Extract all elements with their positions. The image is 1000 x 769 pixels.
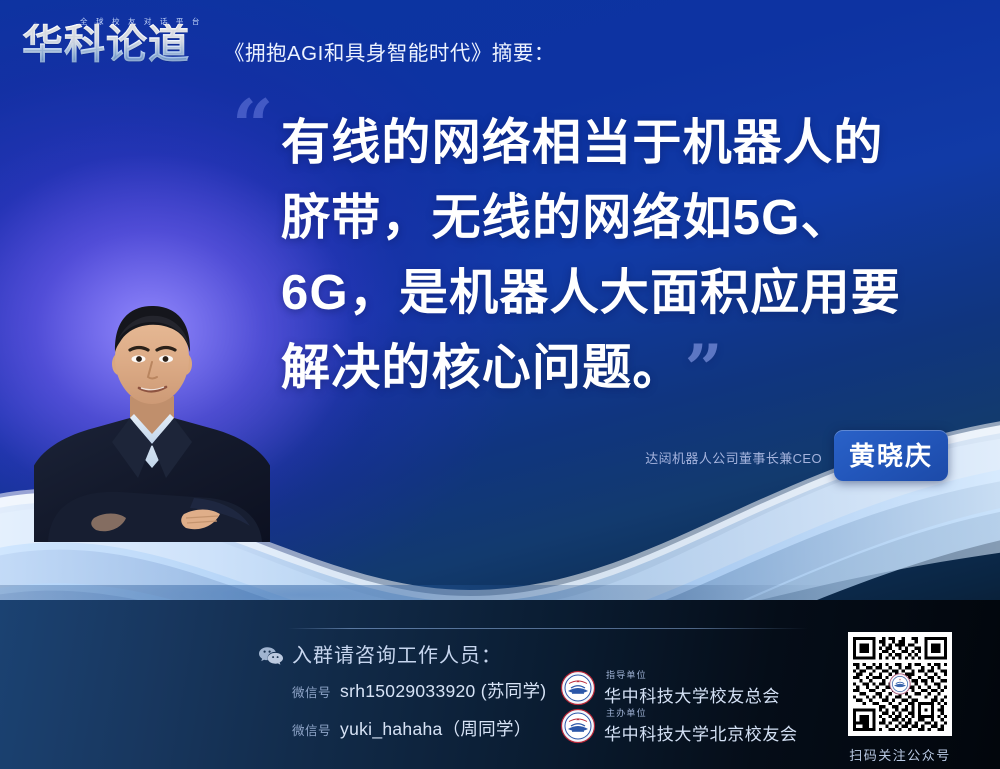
quote-line: 脐带，无线的网络如5G、 (281, 181, 951, 256)
quote-line-text: 解决的核心问题。 (281, 341, 683, 395)
organization-item: 指导单位 华中科技大学校友总会 (560, 668, 780, 707)
attribution: 达闼机器人公司董事长兼CEO 黄晓庆 (645, 448, 942, 468)
quote-open-mark: “ (232, 100, 271, 152)
qr-block: 扫码关注公众号 (838, 632, 962, 764)
qr-caption: 扫码关注公众号 (838, 745, 962, 764)
qr-code-icon[interactable] (848, 632, 952, 736)
contact-value: yuki_hahaha（周同学） (340, 716, 532, 741)
organization-item: 主办单位 华中科技大学北京校友会 (560, 706, 798, 745)
organization-kind: 指导单位 (606, 668, 780, 681)
wechat-icon (258, 646, 284, 666)
quote-line: 解决的核心问题。” (281, 331, 951, 406)
poster-header: 全 球 校 友 对 话 平 台 华科论道 《拥抱AGI和具身智能时代》摘要： (0, 0, 1000, 92)
speaker-portrait (34, 292, 270, 560)
hust-emblem-icon (560, 708, 596, 744)
page-title: 《拥抱AGI和具身智能时代》摘要： (224, 36, 555, 66)
poster-canvas: 全 球 校 友 对 话 平 台 华科论道 《拥抱AGI和具身智能时代》摘要： “… (0, 0, 1000, 769)
brand-logo-text: 华科论道 (22, 24, 190, 65)
speaker-role: 达闼机器人公司董事长兼CEO (645, 451, 822, 466)
status-badge: 黄晓庆 (834, 430, 948, 481)
organization-kind: 主办单位 (606, 706, 798, 719)
contact-heading: 入群请咨询工作人员： (292, 639, 502, 668)
hust-emblem-icon (560, 670, 596, 706)
quote-line: 6G，是机器人大面积应用要 (281, 256, 951, 331)
quote-line: 有线的网络相当于机器人的 (281, 106, 951, 181)
contact-label: 微信号 (292, 682, 331, 701)
brand-logo: 全 球 校 友 对 话 平 台 华科论道 (22, 14, 218, 72)
contact-value: srh15029033920 (苏同学) (340, 678, 546, 703)
quote-text: 有线的网络相当于机器人的 脐带，无线的网络如5G、 6G，是机器人大面积应用要 … (281, 106, 951, 406)
divider (288, 628, 808, 629)
qr-center-emblem-icon (889, 673, 911, 695)
organization-name: 华中科技大学北京校友会 (604, 720, 798, 745)
contact-label: 微信号 (292, 720, 331, 739)
organization-name: 华中科技大学校友总会 (604, 682, 780, 707)
contact-row: 微信号 yuki_hahaha（周同学） (292, 716, 532, 741)
contact-row: 微信号 srh15029033920 (苏同学) (292, 678, 546, 703)
